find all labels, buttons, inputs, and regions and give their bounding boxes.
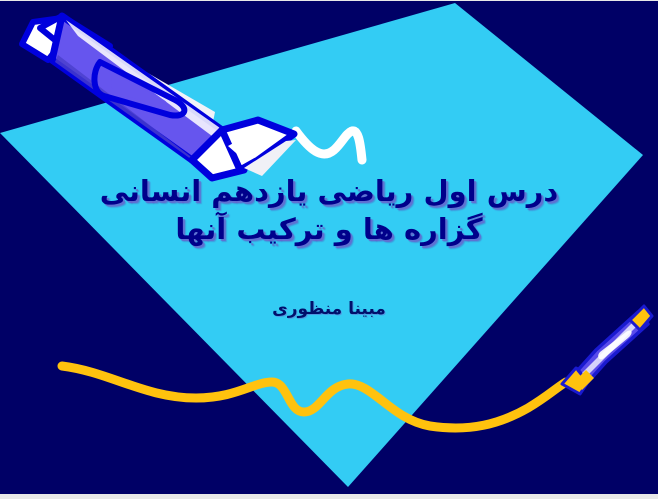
bottom-edge-strip bbox=[0, 494, 658, 499]
top-edge-strip bbox=[0, 0, 658, 1]
presentation-slide: درس اول ریاضی یازدهم انسانی گزاره ها و ت… bbox=[0, 0, 658, 499]
slide-artwork bbox=[0, 0, 658, 499]
